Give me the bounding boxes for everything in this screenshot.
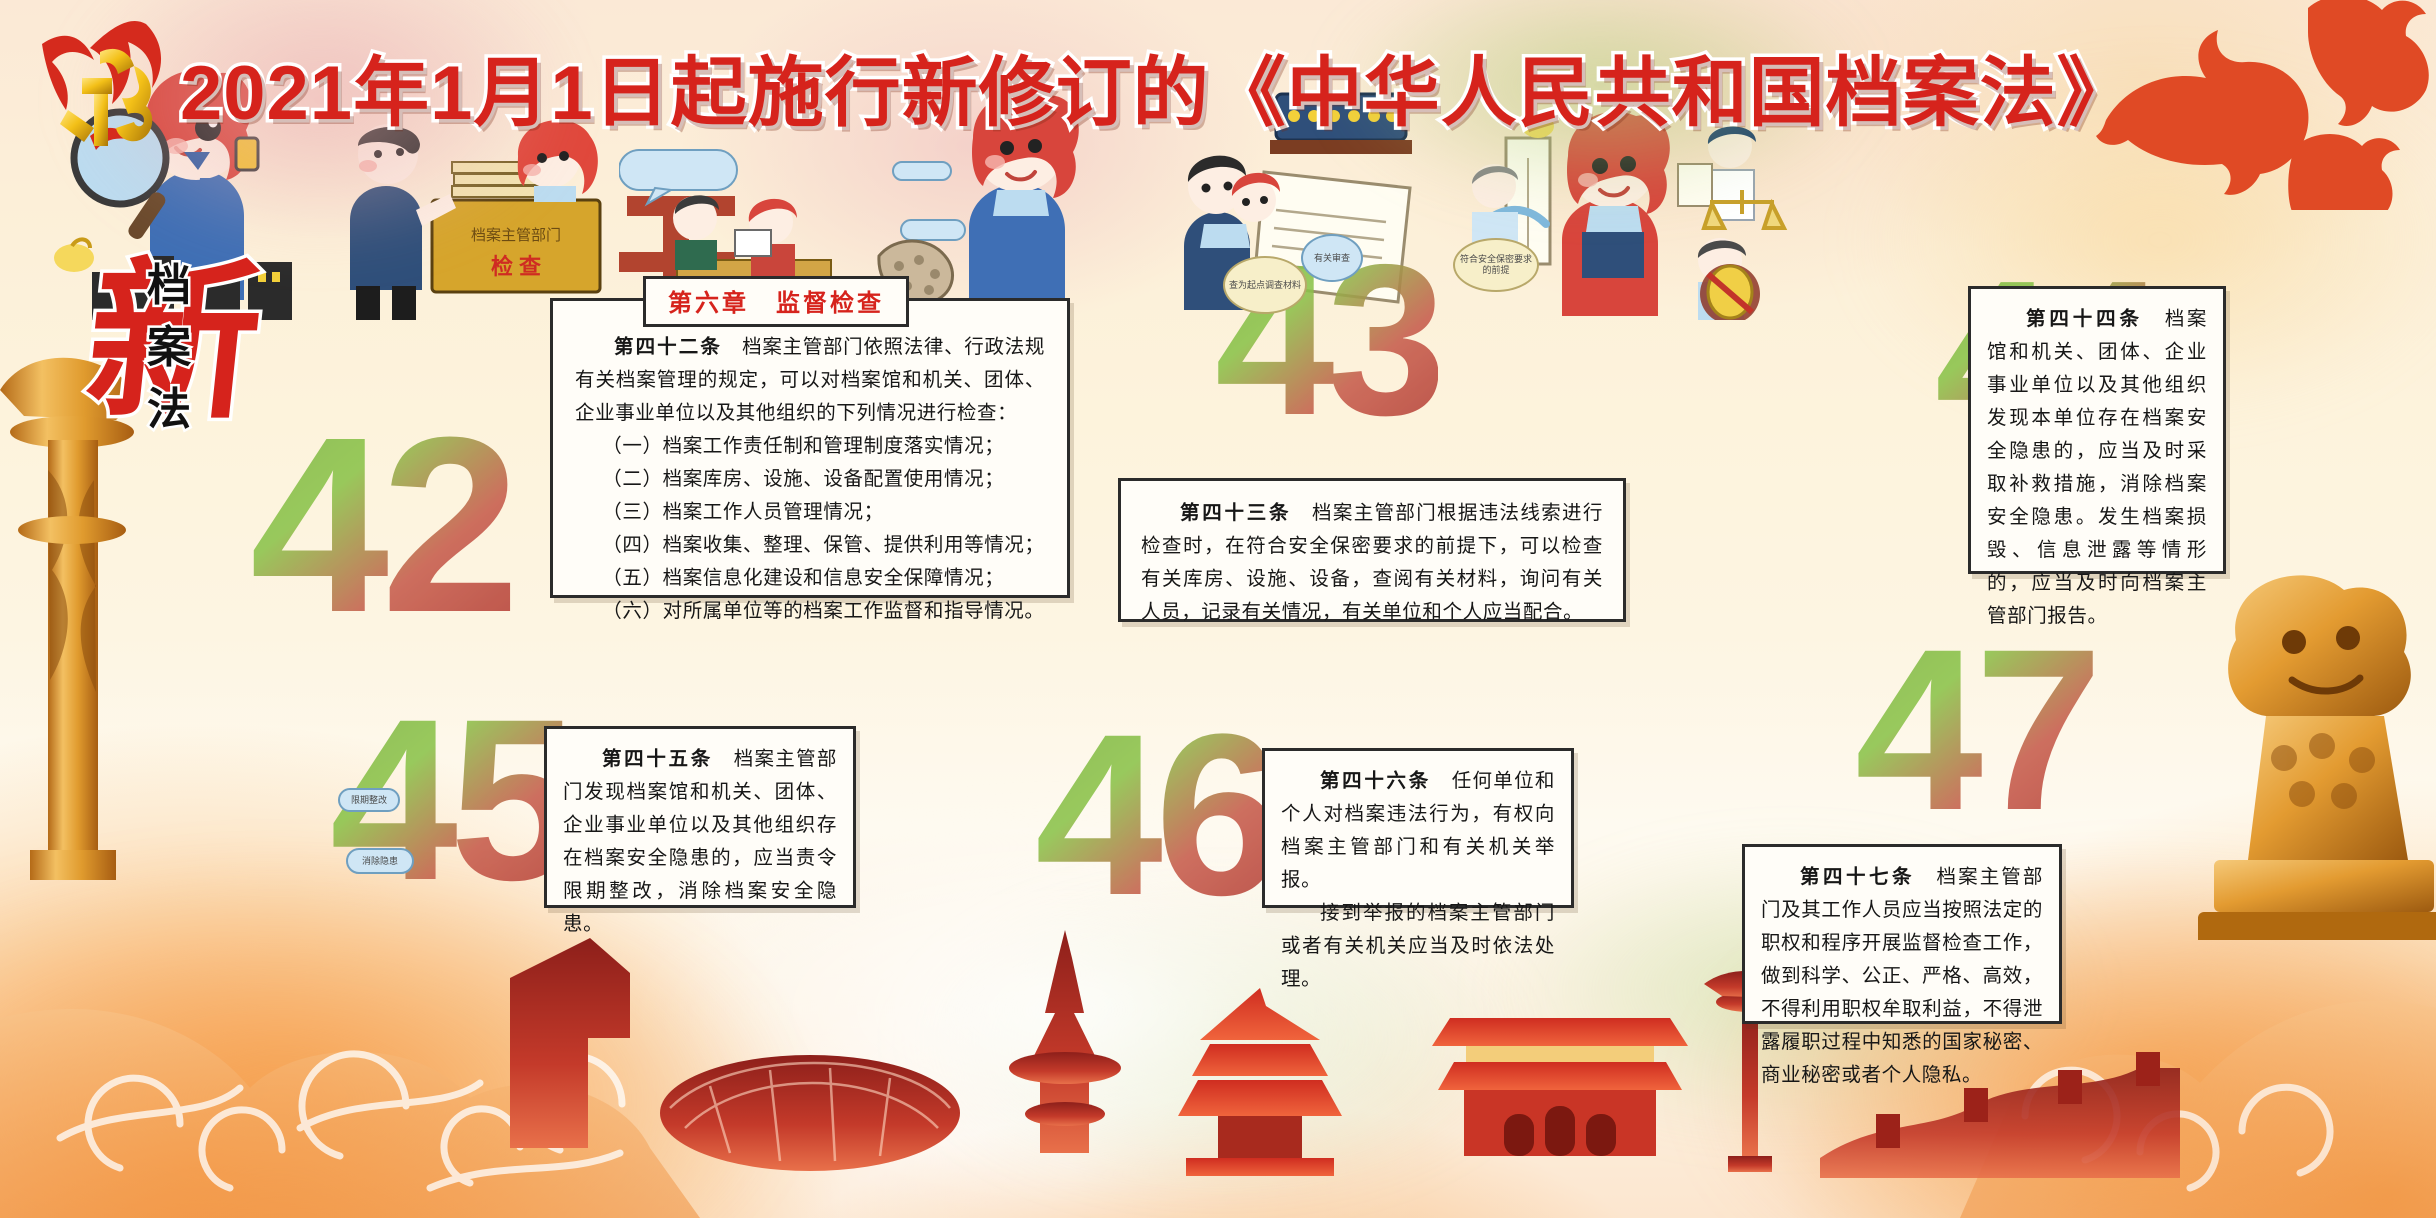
article-46-body: 第四十六条 任何单位和个人对档案违法行为，有权向档案主管部门和有关机关举报。 接…	[1281, 765, 1555, 996]
background-number-43: 43	[1215, 232, 1438, 447]
article-47-text: 档案主管部门及其工作人员应当按照法定的职权和程序开展监督检查工作，做到科学、公正…	[1761, 866, 2043, 1086]
article-42-item-3: （三）档案工作人员管理情况；	[575, 496, 1045, 529]
article-44-text: 档案馆和机关、团体、企业事业单位以及其他组织发现本单位存在档案安全隐患的，应当及…	[1987, 308, 2207, 627]
article-box-47: 第四十七条 档案主管部门及其工作人员应当按照法定的职权和程序开展监督检查工作，做…	[1742, 844, 2062, 1024]
brand-char-1: 档	[147, 264, 191, 308]
article-45-text: 档案主管部门发现档案馆和机关、团体、企业事业单位以及其他组织存在档案安全隐患的，…	[563, 748, 837, 935]
background-number-46: 46	[1035, 700, 1275, 930]
article-46-text-2: 接到举报的档案主管部门或者有关机关应当及时依法处理。	[1281, 897, 1555, 996]
brand-char-stack: 档 案 法	[140, 264, 198, 432]
brand-stamp-archive-new-law: 新 档 案 法	[88, 250, 238, 440]
crate-label: 档案主管部门	[471, 226, 561, 244]
article-43-label: 第四十三条	[1180, 502, 1291, 524]
article-42-item-6: （六）对所属单位等的档案工作监督和指导情况。	[575, 595, 1045, 628]
brand-char-2: 案	[147, 326, 191, 370]
article-box-45: 第四十五条 档案主管部门发现档案馆和机关、团体、企业事业单位以及其他组织存在档案…	[544, 726, 856, 908]
article-42-item-5: （五）档案信息化建设和信息安全保障情况；	[575, 562, 1045, 595]
article-box-44: 第四十四条 档案馆和机关、团体、企业事业单位以及其他组织发现本单位存在档案安全隐…	[1968, 286, 2226, 574]
article-box-42: 第六章 监督检查 第四十二条 档案主管部门依照法律、行政法规有关档案管理的规定，…	[550, 298, 1070, 598]
article-43-body: 第四十三条 档案主管部门根据违法线索进行检查时，在符合安全保密要求的前提下，可以…	[1141, 497, 1603, 629]
article-45-label: 第四十五条	[602, 748, 713, 770]
poster-title: 2021年1月1日起施行新修订的《中华人民共和国档案法》	[180, 48, 1970, 140]
crate-stamp: 检 查	[491, 254, 541, 279]
background-number-42: 42	[250, 400, 512, 650]
article-42-item-1: （一）档案工作责任制和管理制度落实情况；	[575, 430, 1045, 463]
article-44-body: 第四十四条 档案馆和机关、团体、企业事业单位以及其他组织发现本单位存在档案安全隐…	[1987, 303, 2207, 633]
poster-title-text: 2021年1月1日起施行新修订的《中华人民共和国档案法》	[180, 48, 1970, 140]
article-42-body: 第四十二条 档案主管部门依照法律、行政法规有关档案管理的规定，可以对档案馆和机关…	[575, 331, 1045, 628]
article-42-item-2: （二）档案库房、设施、设备配置使用情况；	[575, 463, 1045, 496]
article-45-body: 第四十五条 档案主管部门发现档案馆和机关、团体、企业事业单位以及其他组织存在档案…	[563, 743, 837, 941]
background-number-47: 47	[1855, 615, 2095, 845]
article-47-label: 第四十七条	[1800, 866, 1915, 888]
article-box-43: 第四十三条 档案主管部门根据违法线索进行检查时，在符合安全保密要求的前提下，可以…	[1118, 478, 1626, 622]
article-42-item-4: （四）档案收集、整理、保管、提供利用等情况；	[575, 529, 1045, 562]
article-42-label: 第四十二条	[614, 336, 722, 358]
article-47-body: 第四十七条 档案主管部门及其工作人员应当按照法定的职权和程序开展监督检查工作，做…	[1761, 861, 2043, 1092]
background-number-45: 45	[330, 685, 570, 915]
article-44-label: 第四十四条	[2026, 308, 2143, 330]
article-46-label: 第四十六条	[1320, 770, 1431, 792]
article-box-46: 第四十六条 任何单位和个人对档案违法行为，有权向档案主管部门和有关机关举报。 接…	[1262, 748, 1574, 908]
poster-canvas: 42 43 44 45 46 47	[0, 0, 2436, 1218]
brand-char-3: 法	[147, 388, 191, 432]
chapter-heading: 第六章 监督检查	[643, 276, 909, 327]
